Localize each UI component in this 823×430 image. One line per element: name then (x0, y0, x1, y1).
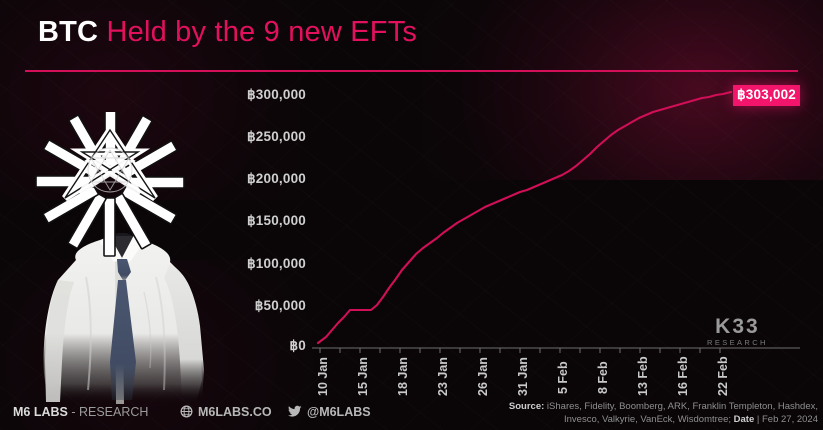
x-tick-label-5: 31 Jan (516, 357, 530, 396)
source-note: Source: iShares, Fidelity, Boomberg, ARK… (468, 400, 818, 426)
source-note-line1: Source: iShares, Fidelity, Boomberg, ARK… (468, 400, 818, 413)
end-value-badge: ฿303,002 (733, 85, 800, 106)
k33-watermark-sub: RESEARCH (707, 339, 768, 347)
x-tick-label-0: 10 Jan (316, 357, 330, 396)
globe-icon (180, 405, 193, 421)
x-tick-label-2: 18 Jan (396, 357, 410, 396)
footer-twitter-link[interactable]: @M6LABS (288, 405, 371, 421)
footer-website-label: M6LABS.CO (198, 405, 272, 419)
x-tick-label-9: 16 Feb (676, 356, 690, 396)
footer-brand-dim: - RESEARCH (68, 405, 149, 419)
x-axis-ticks (320, 348, 720, 353)
x-tick-label-3: 23 Jan (436, 357, 450, 396)
source-text-2: Invesco, Valkyrie, VanEck, Wisdomtree; (564, 414, 734, 425)
twitter-bird-icon (288, 405, 302, 421)
y-tick-label-0: ฿0 (190, 338, 306, 354)
x-tick-label-10: 22 Feb (716, 356, 730, 396)
x-tick-label-1: 15 Jan (356, 357, 370, 396)
footer-brand-bold: M6 LABS (13, 405, 68, 419)
x-tick-label-7: 8 Feb (596, 361, 610, 394)
y-tick-label-50000: ฿50,000 (190, 298, 306, 314)
line-chart (0, 0, 823, 430)
x-tick-label-8: 13 Feb (636, 356, 650, 396)
source-note-line2: Invesco, Valkyrie, VanEck, Wisdomtree; D… (468, 413, 818, 426)
y-tick-label-150000: ฿150,000 (190, 213, 306, 229)
k33-watermark: K33 RESEARCH (707, 316, 768, 347)
source-text: iShares, Fidelity, Boomberg, ARK, Frankl… (544, 401, 818, 412)
y-tick-label-100000: ฿100,000 (190, 256, 306, 272)
k33-watermark-main: K33 (707, 316, 768, 337)
footer-twitter-label: @M6LABS (307, 405, 371, 419)
source-label: Source: (509, 401, 544, 412)
footer-brand: M6 LABS - RESEARCH (13, 405, 148, 419)
date-value: | Feb 27, 2024 (754, 414, 818, 425)
y-tick-label-200000: ฿200,000 (190, 171, 306, 187)
date-label: Date (734, 414, 755, 425)
footer-website-link[interactable]: M6LABS.CO (180, 405, 272, 421)
x-tick-label-4: 26 Jan (476, 357, 490, 396)
y-tick-label-250000: ฿250,000 (190, 129, 306, 145)
x-tick-label-6: 5 Feb (556, 361, 570, 394)
infographic-canvas: BTC Held by the 9 new EFTs (0, 0, 823, 430)
chart-svg (0, 0, 823, 430)
chart-line-series (318, 92, 731, 343)
footer-bar: M6 LABS - RESEARCH M6LABS.CO @M6LABS (0, 396, 823, 430)
y-tick-label-300000: ฿300,000 (190, 87, 306, 103)
